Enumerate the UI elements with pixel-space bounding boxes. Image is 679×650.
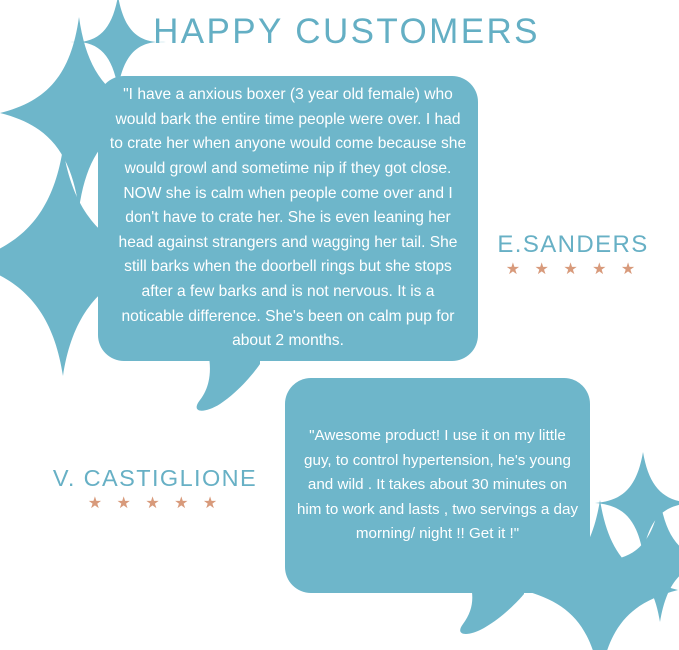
testimonial-2-quote: "Awesome product! I use it on my little … xyxy=(285,424,590,546)
star-rating-sanders: ★ ★ ★ ★ ★ xyxy=(488,262,658,278)
star-rating-castiglione: ★ ★ ★ ★ ★ xyxy=(22,496,288,512)
testimonial-bubble-1: "I have a anxious boxer (3 year old fema… xyxy=(98,76,478,361)
reviewer-name-sanders: E.SANDERS xyxy=(488,232,658,258)
sparkle-bottom-right-medium-icon xyxy=(602,500,679,622)
reviewer-block-castiglione: V. CASTIGLIONE ★ ★ ★ ★ ★ xyxy=(22,466,288,512)
testimonial-bubble-2-tail xyxy=(452,586,524,636)
sparkle-bottom-right-small-icon xyxy=(595,452,679,554)
testimonial-banner: HAPPY CUSTOMERS "I have a anxious boxer … xyxy=(0,0,679,650)
reviewer-name-castiglione: V. CASTIGLIONE xyxy=(22,466,288,492)
reviewer-block-sanders: E.SANDERS ★ ★ ★ ★ ★ xyxy=(488,232,658,278)
testimonial-1-quote: "I have a anxious boxer (3 year old fema… xyxy=(98,83,478,354)
testimonial-bubble-1-tail xyxy=(186,352,260,414)
testimonial-bubble-2: "Awesome product! I use it on my little … xyxy=(285,378,590,593)
page-title: HAPPY CUSTOMERS xyxy=(0,12,679,52)
